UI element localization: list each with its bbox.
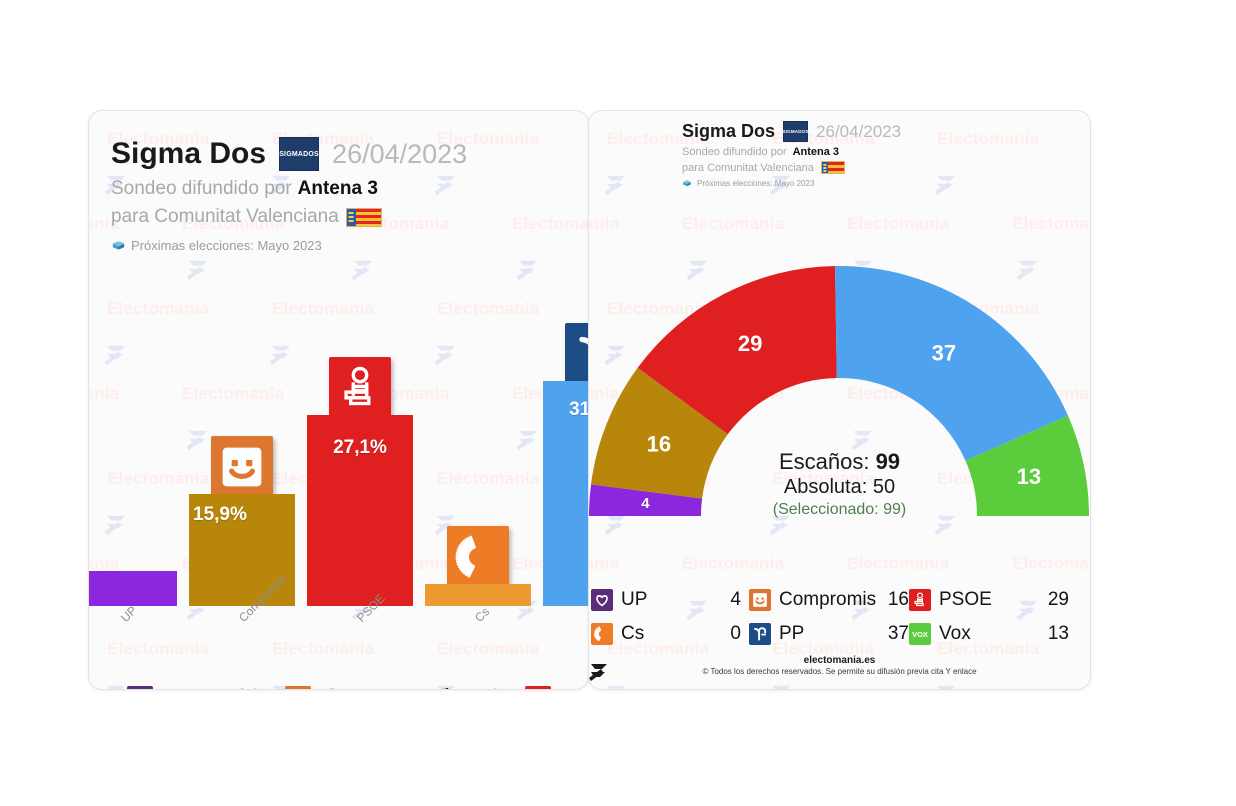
svg-text:VOX: VOX xyxy=(912,630,928,639)
up-icon xyxy=(591,589,613,611)
watermark-text: Electomania xyxy=(847,554,949,574)
party-logo-pp xyxy=(565,323,588,385)
seat-item-cs: Cs0 xyxy=(591,623,741,645)
broadcaster-name: Antena 3 xyxy=(298,178,378,200)
party-logo-cs xyxy=(447,526,509,588)
watermark-text: Electomania xyxy=(682,554,784,574)
seat-arc-value-pp: 37 xyxy=(932,340,956,365)
seat-name-psoe: PSOE xyxy=(939,589,992,611)
next-election-row-right: Próximas elecciones: Mayo 2023 xyxy=(682,177,901,189)
poll-header-right: Sigma Dos SIGMADOS 26/04/2023 Sondeo dif… xyxy=(682,121,901,189)
valencia-flag-icon xyxy=(346,208,382,227)
poll-infographic: ElectomaniaElectomaniaElectomaniaElectom… xyxy=(0,0,1236,806)
pollster-name: Sigma Dos xyxy=(111,137,266,171)
bar-cs[interactable] xyxy=(425,584,531,606)
psoe-icon xyxy=(525,686,551,689)
broadcaster-name-right: Antena 3 xyxy=(793,146,839,158)
seats-label: Escaños: xyxy=(779,449,870,474)
vote-results-legend: 5,0%UP15,9%Compromis27,1%PSOE3,1%Cs31,9%… xyxy=(89,683,588,689)
result-pct-up: 5,0% xyxy=(89,683,117,689)
result-item-psoe: 27,1%PSOE xyxy=(429,683,588,689)
bar-up[interactable] xyxy=(89,571,177,606)
absolute-majority-line: Absoluta: 50 xyxy=(589,476,1090,499)
watermark-text: Electomania xyxy=(437,299,539,319)
footer-rights: © Todos los derechos reservados. Se perm… xyxy=(589,667,1090,676)
vox-icon: VOX xyxy=(909,623,931,645)
poll-date: 26/04/2023 xyxy=(332,139,467,170)
seat-name-up: UP xyxy=(621,589,647,611)
pp-icon xyxy=(749,623,771,645)
seats-summary: Escaños: 99 Absoluta: 50 (Seleccionado: … xyxy=(589,449,1090,519)
seats-value: 99 xyxy=(876,449,900,474)
bar-value-psoe: 27,1% xyxy=(307,437,413,459)
seat-name-compromis: Compromis xyxy=(779,589,876,611)
selected-prefix: (Seleccionado: xyxy=(773,501,883,518)
bar-group-cs xyxy=(425,366,531,606)
bar-chart-x-axis: UPCompromisPSOECsPP xyxy=(89,611,588,656)
bar-group-compromis: 15,9% xyxy=(189,366,295,606)
watermark-text: Electomania xyxy=(847,214,949,234)
cs-icon xyxy=(591,623,613,645)
result-item-up: 5,0%UP xyxy=(89,683,202,689)
broadcaster-row-right: Sondeo difundido por Antena 3 xyxy=(682,146,901,158)
selected-suffix: ) xyxy=(901,501,906,518)
watermark-text: Electomania xyxy=(512,214,588,234)
seat-item-up: UP4 xyxy=(591,589,741,611)
watermark-text: Electomania xyxy=(682,214,784,234)
bar-group-up xyxy=(89,366,177,606)
seat-value-vox: 13 xyxy=(971,623,1069,645)
region-row: para Comunitat Valenciana xyxy=(111,206,467,228)
seat-name-vox: Vox xyxy=(939,623,971,645)
ballot-box-icon xyxy=(111,236,126,254)
footer-credits: electomania.es © Todos los derechos rese… xyxy=(589,655,1090,676)
seat-arc-value-psoe: 29 xyxy=(738,331,762,356)
watermark-text: Electomania xyxy=(107,299,209,319)
party-logo-compromis xyxy=(211,436,273,498)
region-row-right: para Comunitat Valenciana xyxy=(682,161,901,174)
seats-panel: ElectomaniaElectomaniaElectomaniaElectom… xyxy=(588,110,1091,690)
bar-value-pp: 31,9% xyxy=(543,399,588,421)
broadcast-prefix: Sondeo difundido por xyxy=(111,178,292,200)
result-name-psoe: PSOE xyxy=(561,683,588,689)
result-pct-compromis: 15,9% xyxy=(189,683,275,689)
poll-date-right: 26/04/2023 xyxy=(816,122,901,142)
seat-value-pp: 37 xyxy=(804,623,909,645)
watermark-text: Electomania xyxy=(1012,554,1090,574)
next-election-row: Próximas elecciones: Mayo 2023 xyxy=(111,236,467,254)
absolute-label: Absoluta: xyxy=(784,476,867,498)
region-name: para Comunitat Valenciana xyxy=(111,206,339,228)
watermark-text: Electomania xyxy=(589,554,619,574)
vote-bar-chart: 15,9%27,1%31,9% xyxy=(89,366,588,606)
broadcast-prefix-right: Sondeo difundido por xyxy=(682,146,787,158)
seat-item-compromis: Compromis16 xyxy=(749,589,909,611)
compromis-icon xyxy=(285,686,311,689)
sigmados-logo-right: SIGMADOS xyxy=(783,121,808,142)
pollster-row-right: Sigma Dos SIGMADOS 26/04/2023 xyxy=(682,121,901,142)
seat-name-pp: PP xyxy=(779,623,804,645)
seat-value-psoe: 29 xyxy=(992,589,1069,611)
bar-pp[interactable]: 31,9% xyxy=(543,381,588,606)
next-election-text-right: Próximas elecciones: Mayo 2023 xyxy=(697,179,814,188)
up-icon xyxy=(127,686,153,689)
vote-estimate-panel: ElectomaniaElectomaniaElectomaniaElectom… xyxy=(88,110,589,690)
seats-total-line: Escaños: 99 xyxy=(589,449,1090,475)
footer-site: electomania.es xyxy=(589,655,1090,666)
watermark-text: Electomania xyxy=(937,129,1039,149)
compromis-icon xyxy=(749,589,771,611)
poll-header-left: Sigma Dos SIGMADOS 26/04/2023 Sondeo dif… xyxy=(111,137,467,254)
pollster-row: Sigma Dos SIGMADOS 26/04/2023 xyxy=(111,137,467,171)
result-pct-psoe: 27,1% xyxy=(429,683,515,689)
result-item-compromis: 15,9%Compromis xyxy=(189,683,464,689)
selected-line: (Seleccionado: 99) xyxy=(589,501,1090,519)
party-logo-psoe xyxy=(329,357,391,419)
bar-group-psoe: 27,1% xyxy=(307,366,413,606)
bar-psoe[interactable]: 27,1% xyxy=(307,415,413,606)
valencia-flag-icon-right xyxy=(821,161,845,174)
watermark-text: Electomania xyxy=(272,299,374,319)
bar-group-pp: 31,9% xyxy=(543,366,588,606)
seat-item-psoe: PSOE29 xyxy=(909,589,1069,611)
ballot-box-icon-right xyxy=(682,177,692,189)
watermark-text: Electomania xyxy=(589,214,619,234)
seat-value-compromis: 16 xyxy=(876,589,909,611)
seat-item-vox: VOXVox13 xyxy=(909,623,1069,645)
seat-value-up: 4 xyxy=(647,589,741,611)
seat-item-pp: PP37 xyxy=(749,623,909,645)
seat-name-cs: Cs xyxy=(621,623,644,645)
selected-value: 99 xyxy=(883,501,901,518)
pollster-name-right: Sigma Dos xyxy=(682,121,775,142)
psoe-icon xyxy=(909,589,931,611)
seat-value-cs: 0 xyxy=(644,623,741,645)
x-tick-cs: Cs xyxy=(472,605,492,625)
broadcaster-row: Sondeo difundido por Antena 3 xyxy=(111,178,467,200)
next-election-text: Próximas elecciones: Mayo 2023 xyxy=(131,238,322,253)
absolute-value: 50 xyxy=(873,476,895,498)
sigmados-logo: SIGMADOS xyxy=(279,137,319,171)
x-tick-up: UP xyxy=(118,603,140,625)
bar-value-compromis: 15,9% xyxy=(189,504,295,526)
region-name-right: para Comunitat Valenciana xyxy=(682,162,814,174)
watermark-text: Electomania xyxy=(1012,214,1090,234)
